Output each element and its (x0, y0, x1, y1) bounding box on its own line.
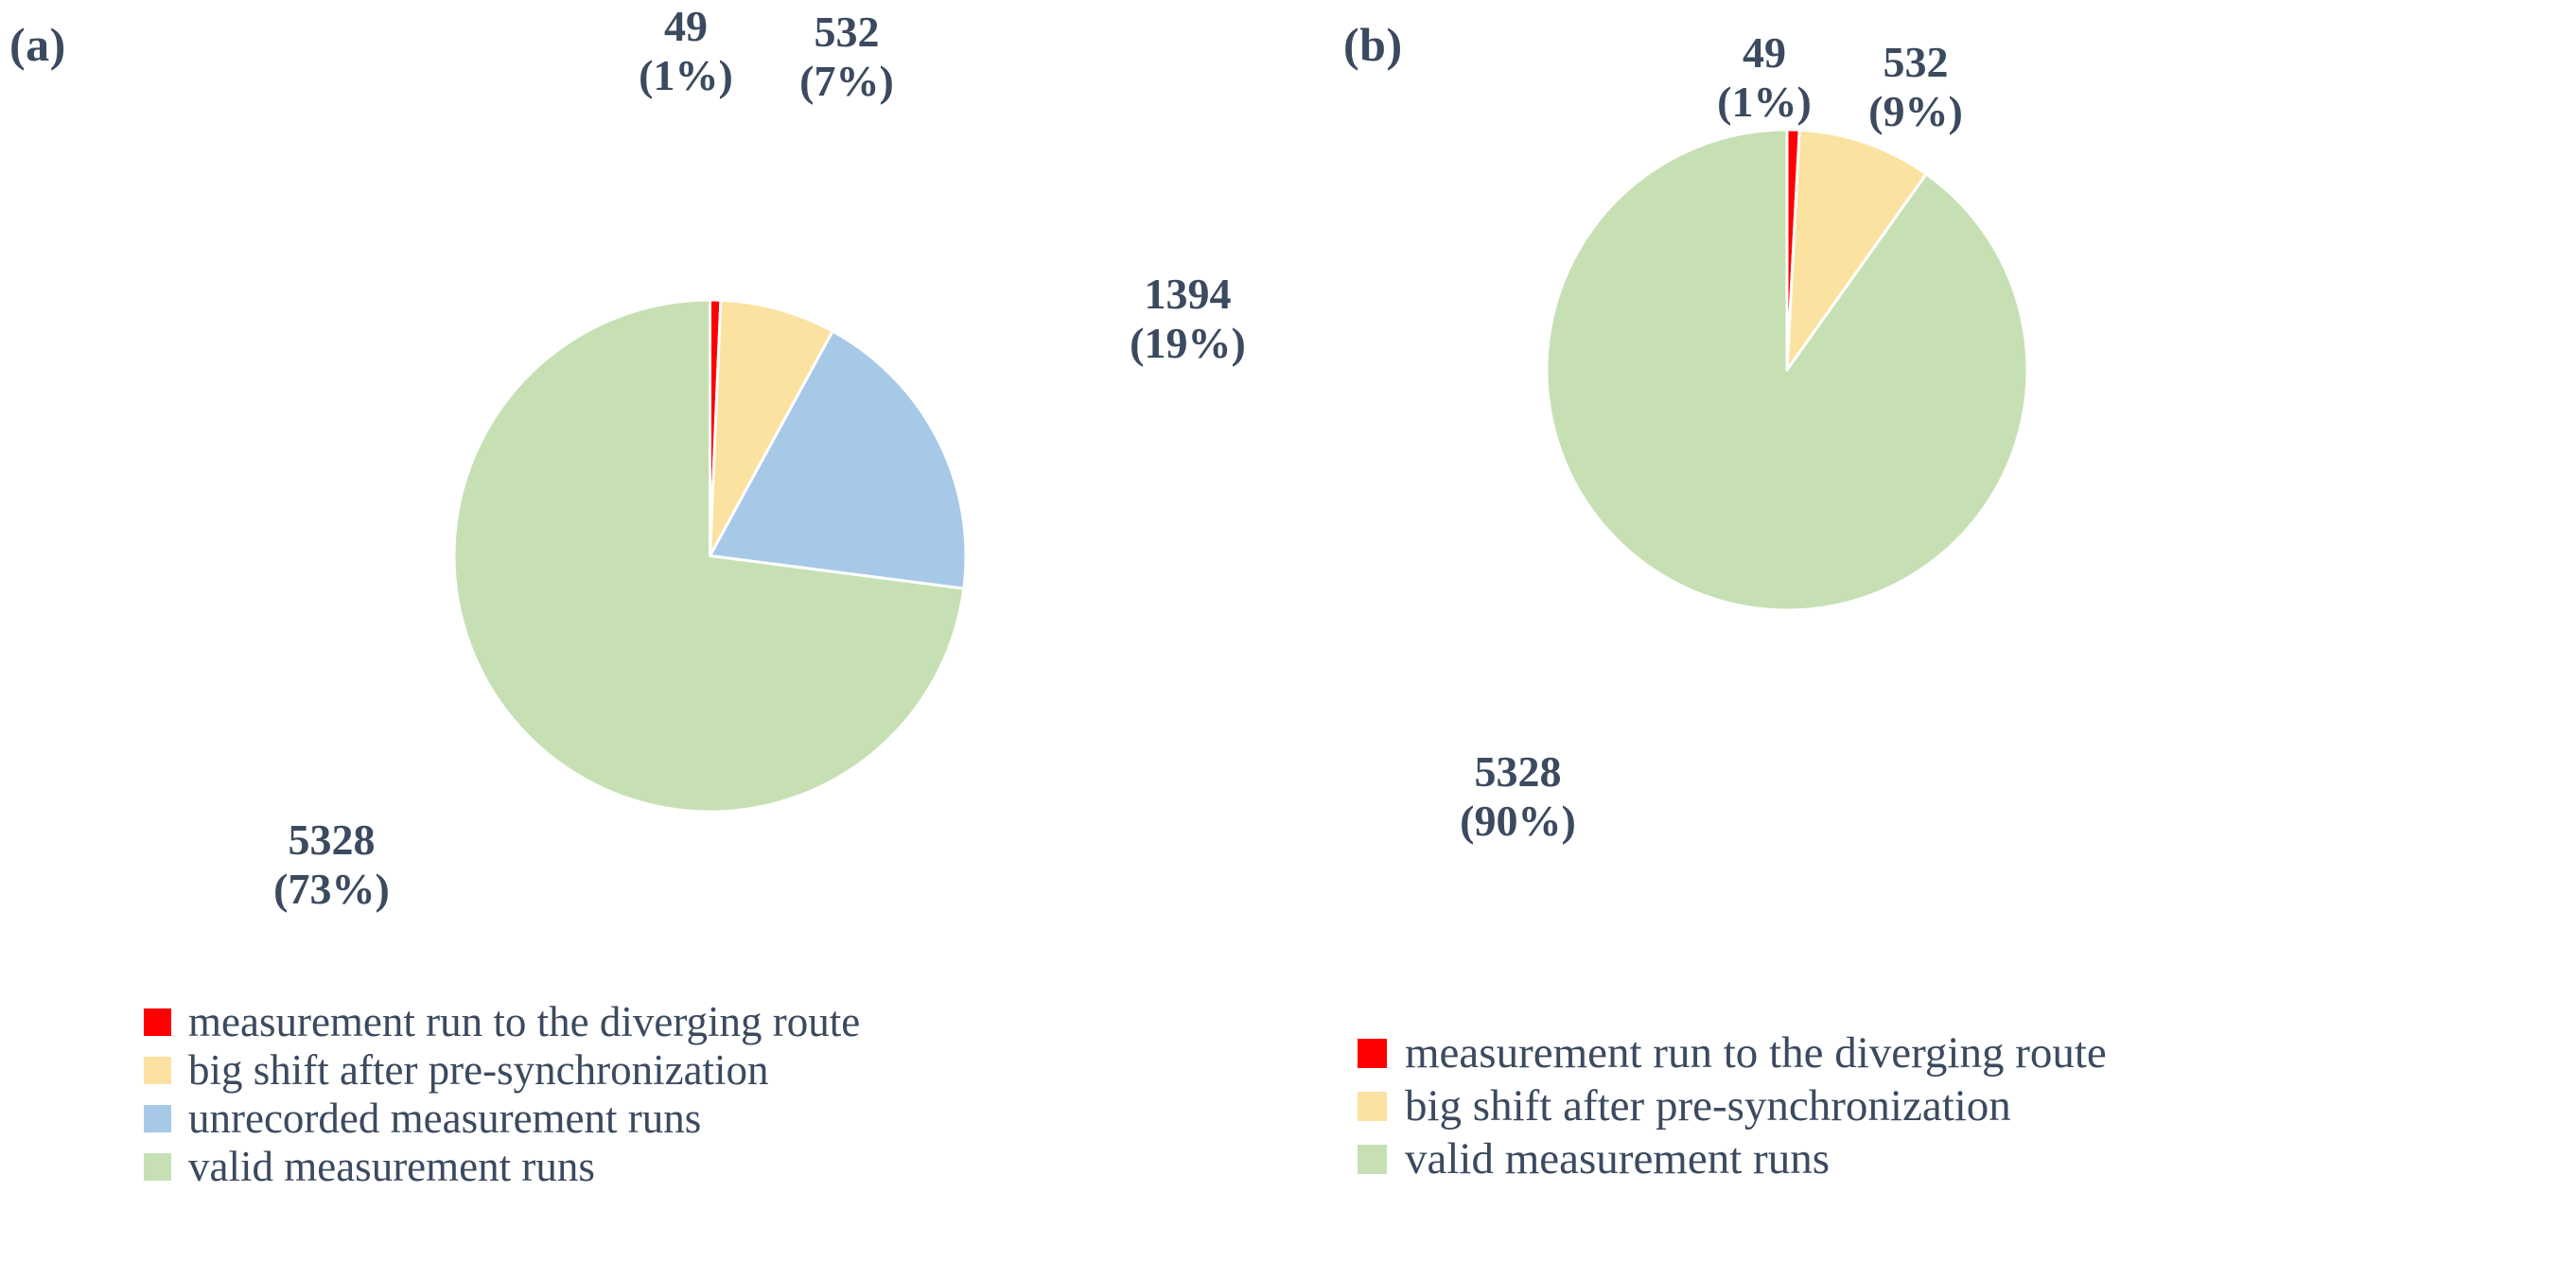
panel-a-tag: (a) (9, 17, 66, 72)
legend-a-item-unrecorded[interactable]: unrecorded measurement runs (144, 1097, 860, 1140)
legend-a-item-bigshift[interactable]: big shift after pre-synchronization (144, 1049, 860, 1092)
legend-a-label-valid: valid measurement runs (188, 1146, 595, 1188)
pie-a-label-valid: 5328 (73%) (244, 815, 419, 913)
pie-chart-b (1545, 128, 2029, 612)
pie-a-label-diverging-value: 49 (624, 2, 747, 51)
pie-a-label-unrecorded: 1394 (19%) (1100, 270, 1275, 367)
pie-a-svg (452, 298, 968, 814)
pie-b-label-valid: 5328 (90%) (1430, 747, 1605, 845)
panel-a: (a) 49 (1%) 532 (7%) 1394 (19%) 5328 (73… (0, 0, 1343, 1280)
legend-b-label-diverging: measurement run to the diverging route (1405, 1031, 2107, 1076)
panel-b: (b) 49 (1%) 532 (9%) 5328 (90%) measurem… (1343, 0, 2576, 1280)
panel-b-tag: (b) (1343, 17, 1403, 72)
legend-b-item-valid[interactable]: valid measurement runs (1358, 1137, 2107, 1182)
pie-a-label-valid-value: 5328 (244, 815, 419, 865)
pie-b-label-diverging: 49 (1%) (1703, 28, 1826, 126)
legend-swatch-valid-icon (144, 1153, 171, 1181)
legend-a: measurement run to the diverging route b… (144, 1001, 860, 1194)
pie-a-label-diverging: 49 (1%) (624, 2, 747, 99)
pie-b-label-valid-value: 5328 (1430, 747, 1605, 797)
pie-b-label-bigshift-percent: (9%) (1845, 87, 1987, 136)
pie-a-label-unrecorded-percent: (19%) (1100, 319, 1275, 368)
legend-a-label-bigshift: big shift after pre-synchronization (188, 1049, 769, 1092)
pie-b-label-diverging-value: 49 (1703, 28, 1826, 78)
pie-a-label-bigshift-percent: (7%) (776, 57, 918, 106)
legend-b-item-bigshift[interactable]: big shift after pre-synchronization (1358, 1084, 2107, 1129)
pie-a-label-diverging-percent: (1%) (624, 51, 747, 100)
legend-b: measurement run to the diverging route b… (1358, 1031, 2107, 1190)
pie-slice (1547, 130, 2027, 610)
pie-b-svg (1545, 128, 2029, 612)
legend-a-label-diverging: measurement run to the diverging route (188, 1001, 860, 1043)
legend-swatch-diverging-icon (1358, 1039, 1387, 1068)
legend-swatch-unrecorded-icon (144, 1105, 171, 1132)
legend-swatch-bigshift-icon (144, 1057, 171, 1084)
legend-a-label-unrecorded: unrecorded measurement runs (188, 1097, 701, 1140)
pie-a-label-valid-percent: (73%) (244, 865, 419, 914)
legend-swatch-bigshift-icon (1358, 1092, 1387, 1121)
pie-b-label-diverging-percent: (1%) (1703, 78, 1826, 127)
legend-b-item-diverging[interactable]: measurement run to the diverging route (1358, 1031, 2107, 1076)
pie-a-label-bigshift: 532 (7%) (776, 8, 918, 105)
pie-b-label-bigshift: 532 (9%) (1845, 38, 1987, 135)
pie-b-label-valid-percent: (90%) (1430, 797, 1605, 846)
legend-a-item-valid[interactable]: valid measurement runs (144, 1146, 860, 1188)
pie-b-label-bigshift-value: 532 (1845, 38, 1987, 87)
legend-a-item-diverging[interactable]: measurement run to the diverging route (144, 1001, 860, 1043)
legend-swatch-diverging-icon (144, 1008, 171, 1036)
legend-b-label-valid: valid measurement runs (1405, 1137, 1830, 1182)
pie-chart-a (452, 298, 968, 814)
pie-a-label-bigshift-value: 532 (776, 8, 918, 57)
legend-swatch-valid-icon (1358, 1145, 1387, 1174)
legend-b-label-bigshift: big shift after pre-synchronization (1405, 1084, 2011, 1129)
pie-a-label-unrecorded-value: 1394 (1100, 270, 1275, 319)
